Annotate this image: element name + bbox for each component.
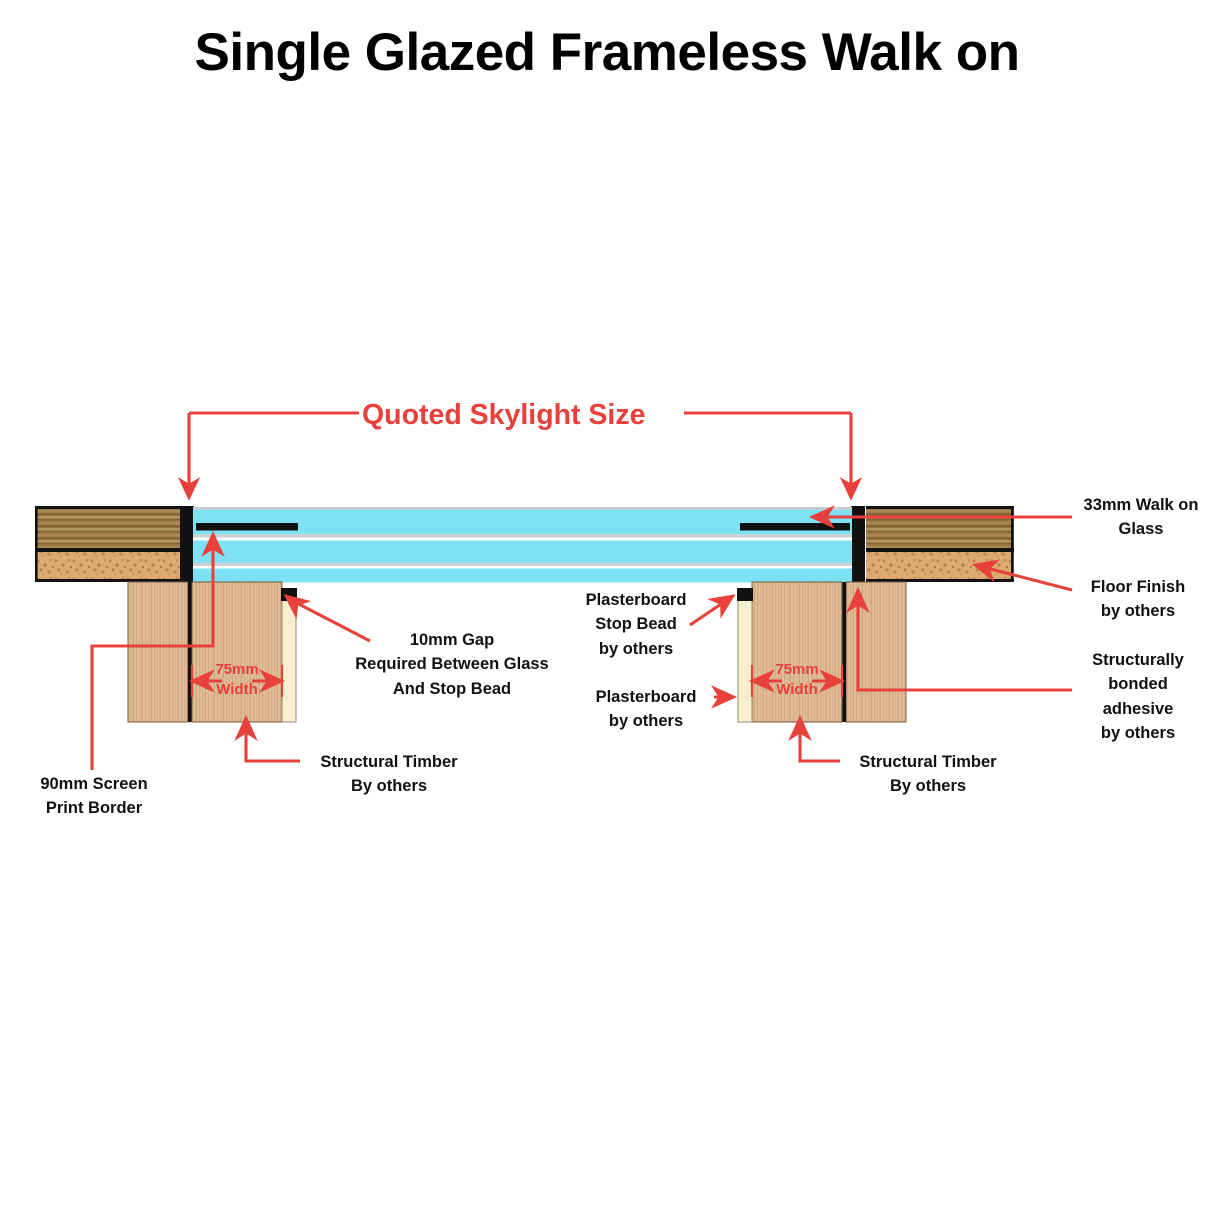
label-structural-timber-left: Structural Timber By others	[305, 750, 473, 799]
right-timber-posts	[752, 582, 906, 722]
walk-on-glass	[193, 507, 852, 583]
dimension-left-width: 75mm Width	[197, 660, 277, 701]
dimension-right-width: 75mm Width	[757, 660, 837, 701]
right-screen-print-border	[740, 523, 850, 531]
left-adhesive-upstand	[180, 506, 194, 582]
label-plasterboard: Plasterboard by others	[576, 685, 716, 734]
left-screen-print-border	[196, 523, 298, 531]
label-structurally-bonded-adhesive: Structurally bonded adhesive by others	[1062, 648, 1214, 746]
left-timber-posts	[128, 582, 282, 722]
structural-timber-left-leader	[246, 718, 300, 761]
label-structural-timber-right: Structural Timber By others	[844, 750, 1012, 799]
left-floor-assembly	[35, 506, 183, 582]
structural-timber-right-leader	[800, 718, 840, 761]
label-10mm-gap: 10mm Gap Required Between Glass And Stop…	[342, 628, 562, 701]
label-floor-finish: Floor Finish by others	[1062, 575, 1214, 624]
label-plasterboard-stop-bead: Plasterboard Stop Bead by others	[556, 588, 716, 661]
diagram-page: Single Glazed Frameless Walk on	[0, 0, 1214, 1214]
label-walk-on-glass: 33mm Walk on Glass	[1068, 493, 1214, 542]
right-plasterboard-stop-bead	[737, 588, 753, 601]
quoted-skylight-size-label: Quoted Skylight Size	[362, 399, 645, 432]
label-screen-print-border: 90mm Screen Print Border	[20, 772, 168, 821]
left-plasterboard	[282, 596, 296, 722]
right-plasterboard	[738, 596, 752, 722]
